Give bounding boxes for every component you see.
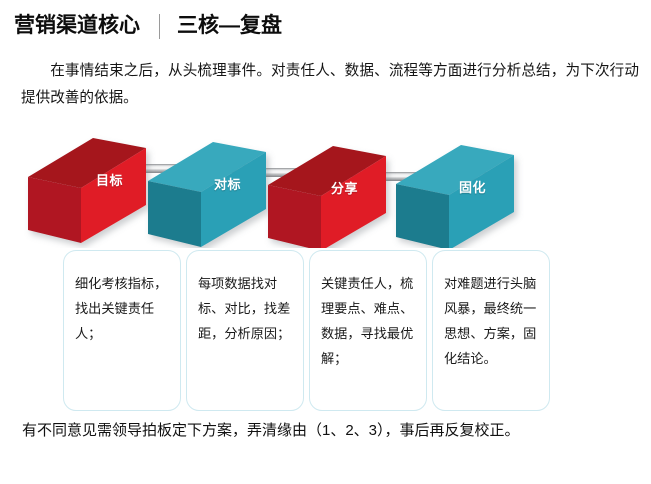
detail-box-4: 对难题进行头脑风暴，最终统一思想、方案，固化结论。: [432, 250, 550, 411]
cube-step-1: [28, 138, 146, 243]
detail-box-1: 细化考核指标，找出关键责任人；: [63, 250, 181, 411]
detail-box-3: 关键责任人，梳理要点、难点、数据，寻找最优解；: [309, 250, 427, 411]
cube-step-3: [268, 146, 386, 248]
detail-box-4-text: 对难题进行头脑风暴，最终统一思想、方案，固化结论。: [444, 271, 538, 371]
detail-box-3-text: 关键责任人，梳理要点、难点、数据，寻找最优解；: [321, 271, 415, 371]
detail-box-2: 每项数据找对标、对比，找差距，分析原因；: [186, 250, 304, 411]
footer-note: 有不同意见需领导拍板定下方案，弄清缘由（1、2、3），事后再反复校正。: [22, 419, 632, 443]
title-sub-text: 三核—复盘: [177, 11, 282, 41]
title-main-text: 营销渠道核心: [14, 11, 140, 41]
cube-step-2: [148, 142, 266, 247]
process-cube-chain: [0, 126, 651, 248]
detail-box-row: 细化考核指标，找出关键责任人； 每项数据找对标、对比，找差距，分析原因； 关键责…: [63, 250, 557, 411]
cube-step-4: [396, 145, 514, 248]
detail-box-2-text: 每项数据找对标、对比，找差距，分析原因；: [198, 271, 292, 346]
detail-box-1-text: 细化考核指标，找出关键责任人；: [75, 271, 169, 346]
page-title: 营销渠道核心 三核—复盘: [14, 11, 282, 41]
intro-paragraph: 在事情结束之后，从头梳理事件。对责任人、数据、流程等方面进行分析总结，为下次行动…: [21, 58, 639, 112]
title-divider: [159, 14, 160, 39]
